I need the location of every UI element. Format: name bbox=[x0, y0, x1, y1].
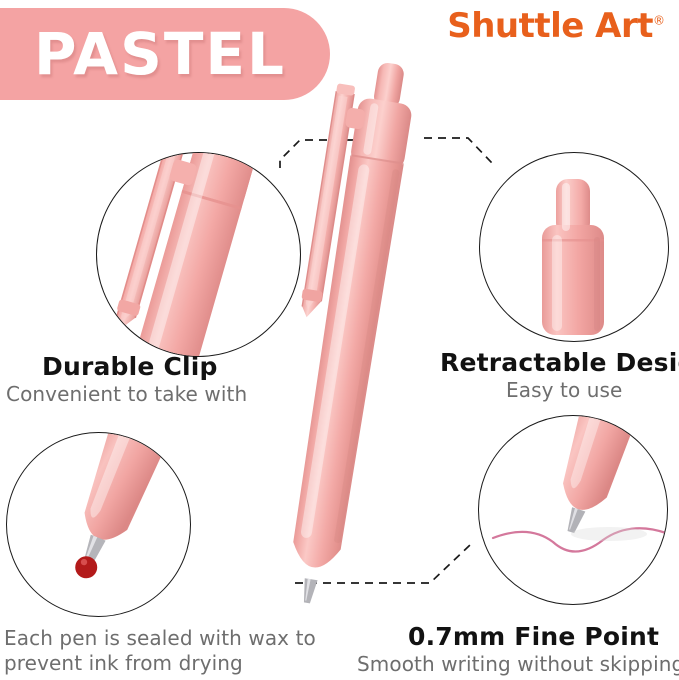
pen-tip-writing-closeup bbox=[479, 416, 668, 605]
brand-logo: Shuttle Art® bbox=[447, 6, 665, 46]
product-pen-main bbox=[248, 52, 448, 622]
brand-name: Shuttle Art bbox=[447, 6, 653, 46]
callout-circle-wax-seal bbox=[6, 432, 191, 617]
feature-caption-durable-clip: Convenient to take with bbox=[6, 382, 247, 407]
feature-caption-retractable-design: Easy to use bbox=[506, 378, 622, 403]
pen-clip-collar bbox=[345, 107, 366, 130]
callout-circle-fine-point bbox=[478, 415, 668, 605]
registered-trademark-icon: ® bbox=[653, 14, 665, 28]
feature-title-durable-clip: Durable Clip bbox=[42, 352, 218, 381]
feature-title-retractable-design: Retractable Design bbox=[440, 348, 679, 377]
callout-circle-retractable-design bbox=[479, 152, 669, 342]
feature-title-fine-point: 0.7mm Fine Point bbox=[408, 622, 659, 651]
pen-tip-wax-seal-closeup bbox=[7, 433, 191, 617]
pen-plunger-closeup bbox=[480, 153, 669, 342]
feature-caption-wax-sealed: Each pen is sealed with wax to prevent i… bbox=[4, 626, 334, 676]
feature-caption-fine-point: Smooth writing without skipping bbox=[357, 652, 679, 677]
infographic-canvas: PASTEL Shuttle Art® bbox=[0, 0, 679, 680]
